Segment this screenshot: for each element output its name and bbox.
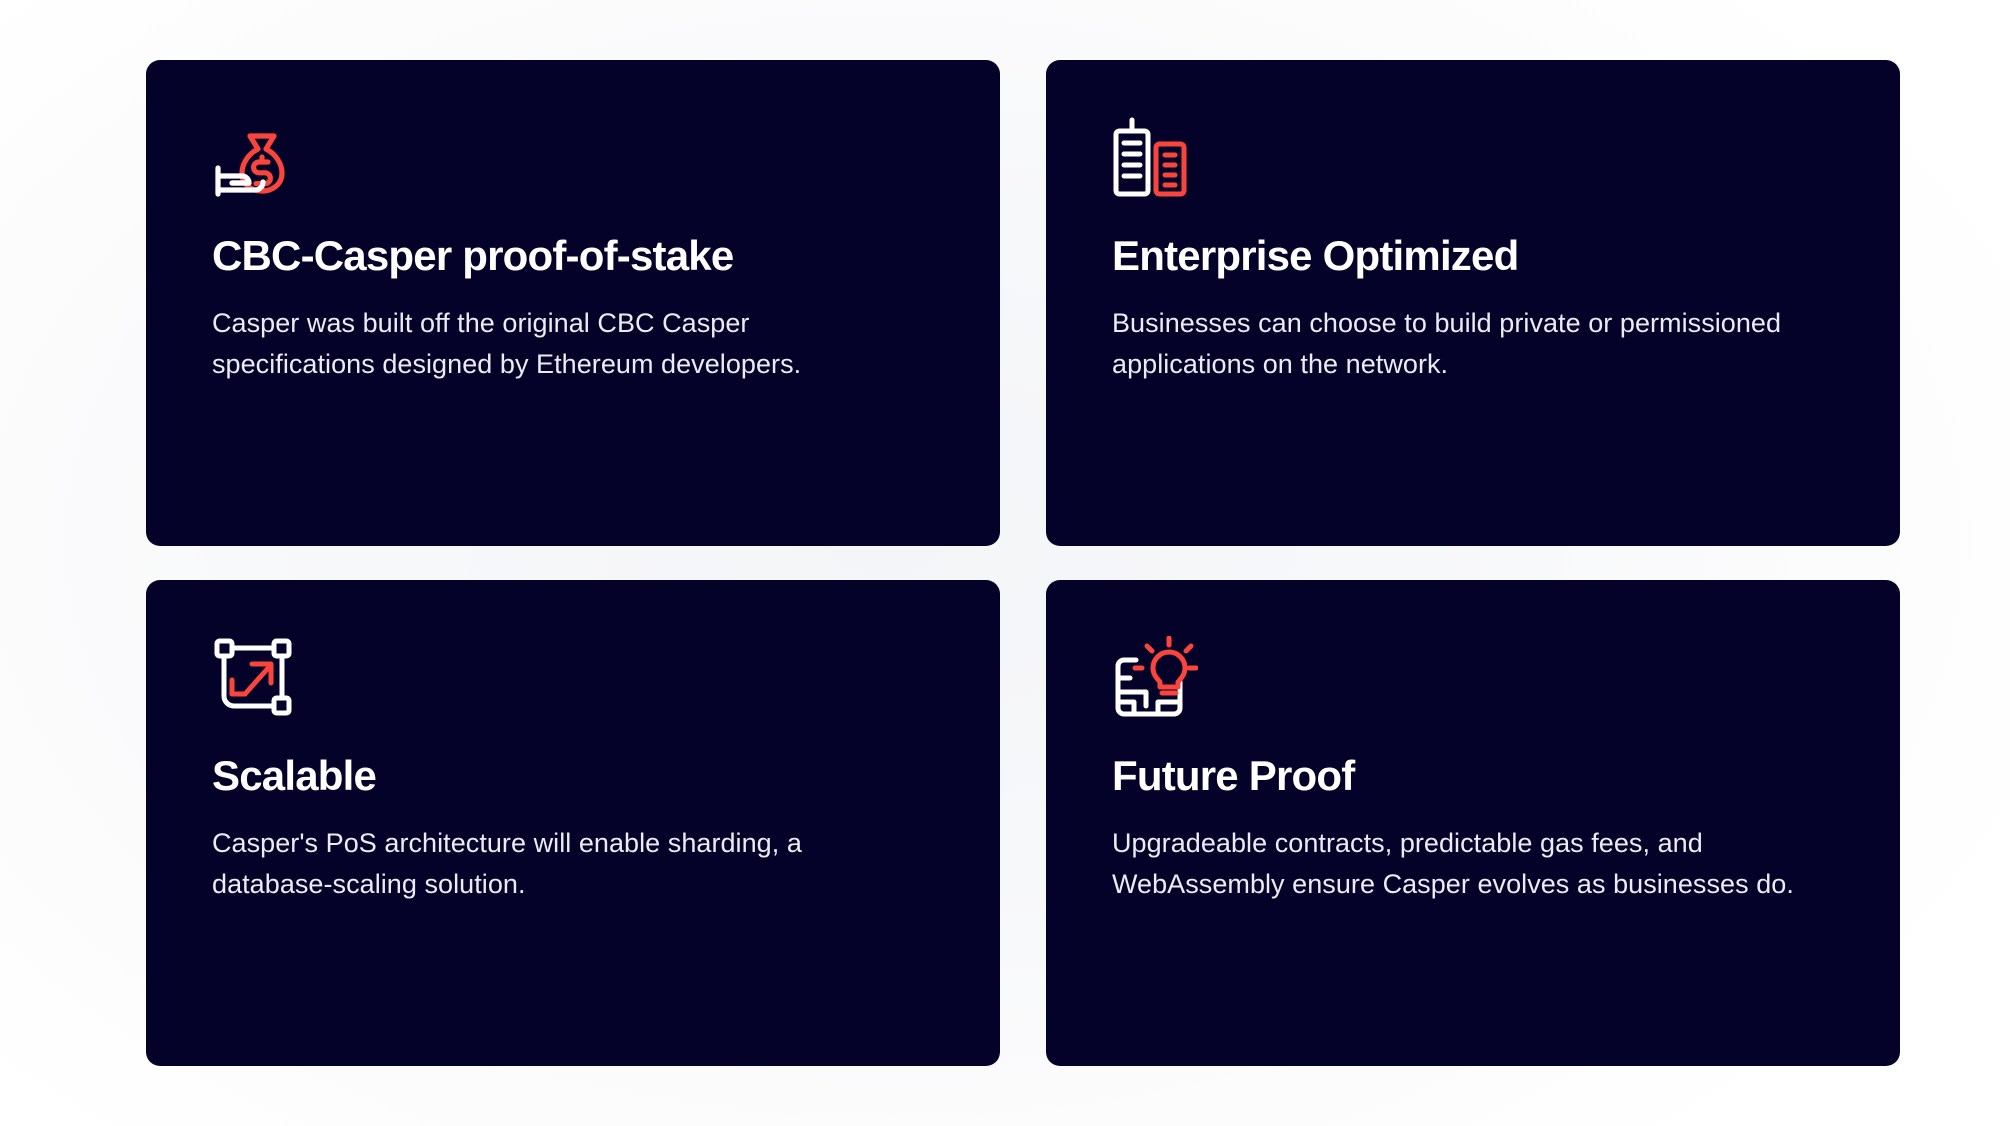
feature-card-future-proof[interactable]: Future Proof Upgradeable contracts, pred… (1046, 580, 1900, 1066)
card-title: CBC-Casper proof-of-stake (212, 232, 934, 279)
feature-card-scalable[interactable]: Scalable Casper's PoS architecture will … (146, 580, 1000, 1066)
money-bag-in-hand-icon (212, 116, 298, 202)
card-title: Future Proof (1112, 752, 1834, 799)
card-title: Scalable (212, 752, 934, 799)
card-description: Casper was built off the original CBC Ca… (212, 303, 912, 385)
features-grid: CBC-Casper proof-of-stake Casper was bui… (146, 60, 1900, 1066)
feature-card-cbc-casper-proof-of-stake[interactable]: CBC-Casper proof-of-stake Casper was bui… (146, 60, 1000, 546)
card-description: Upgradeable contracts, predictable gas f… (1112, 823, 1812, 905)
office-buildings-icon (1112, 116, 1198, 202)
card-description: Casper's PoS architecture will enable sh… (212, 823, 912, 905)
scale-resize-arrow-icon (212, 636, 298, 722)
blueprint-lightbulb-icon (1112, 636, 1198, 722)
card-title: Enterprise Optimized (1112, 232, 1834, 279)
card-description: Businesses can choose to build private o… (1112, 303, 1812, 385)
feature-card-enterprise-optimized[interactable]: Enterprise Optimized Businesses can choo… (1046, 60, 1900, 546)
